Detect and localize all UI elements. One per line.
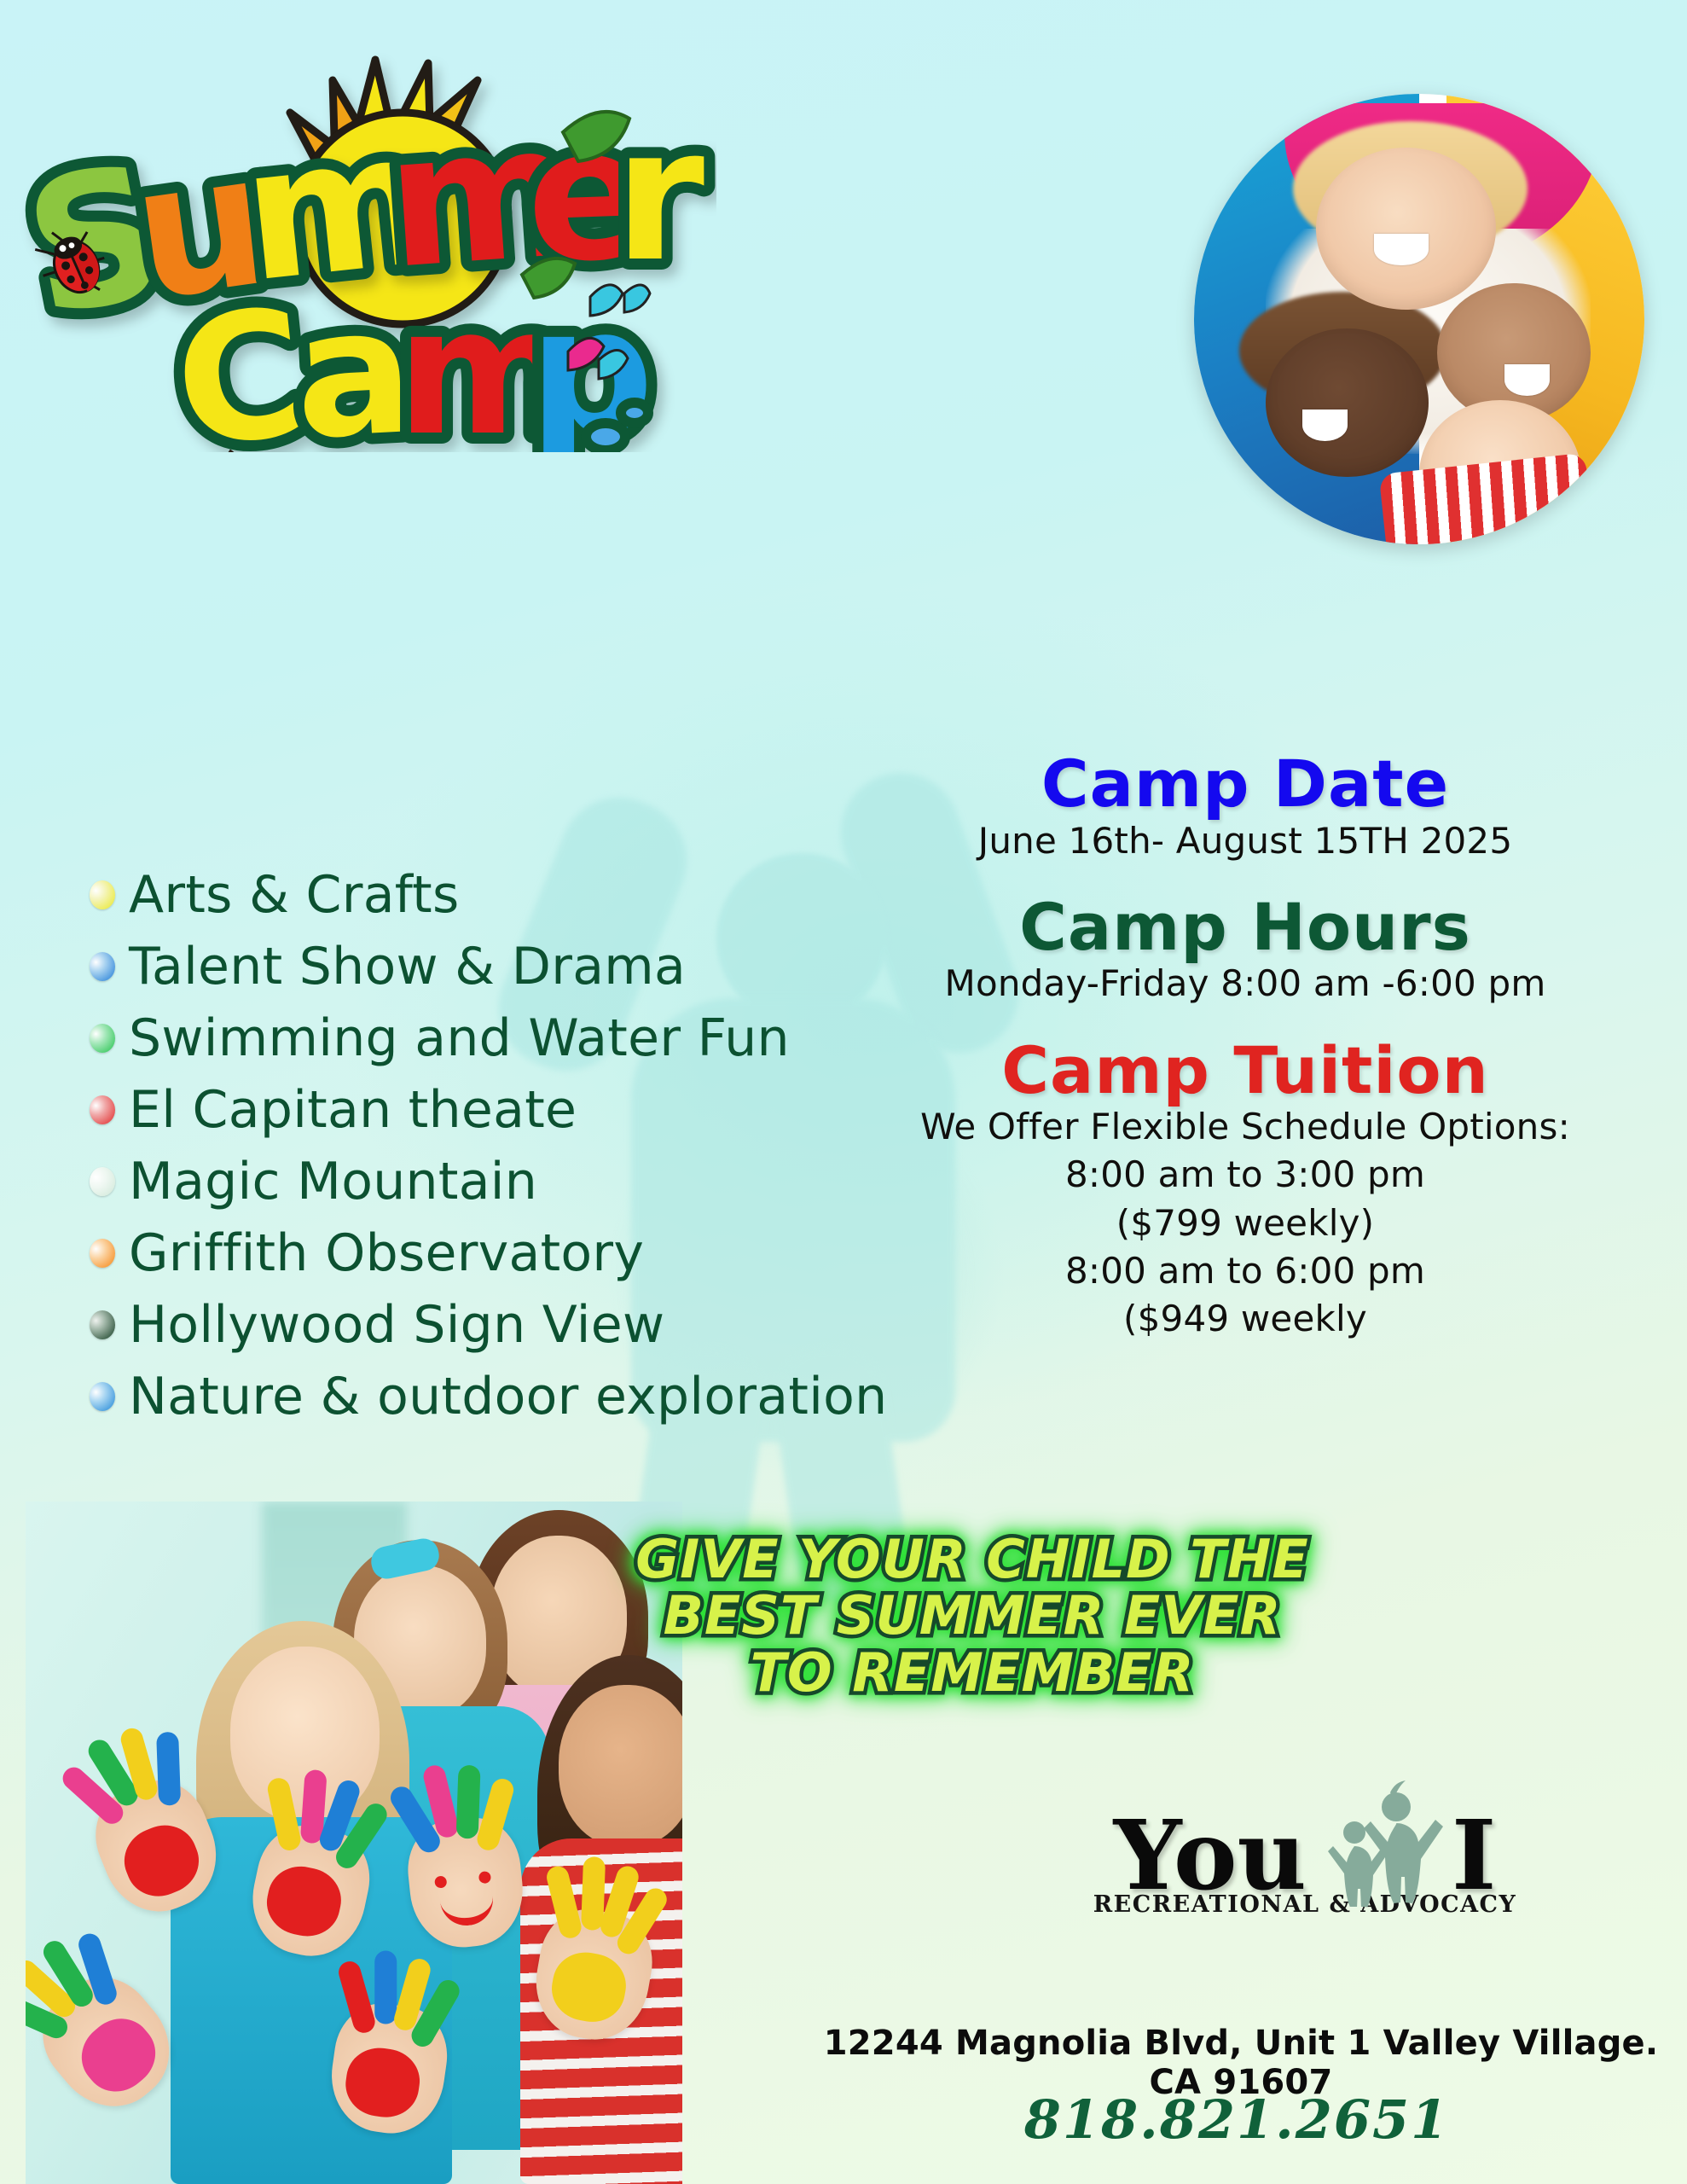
activity-label: Magic Mountain — [129, 1156, 537, 1207]
camp-hours-line: Monday-Friday 8:00 am -6:00 pm — [861, 960, 1629, 1008]
tuition-line-2: 8:00 am to 3:00 pm — [861, 1151, 1629, 1199]
tuition-line-4: 8:00 am to 6:00 pm — [861, 1247, 1629, 1295]
tagline: GIVE YOUR CHILD THE BEST SUMMER EVER TO … — [631, 1531, 1313, 1701]
activity-label: Talent Show & Drama — [129, 941, 686, 992]
brand-tagline: RECREATIONAL & ADVOCACY — [1006, 1891, 1603, 1918]
tagline-line-3: TO REMEMBER — [631, 1645, 1313, 1701]
bullet-dot — [90, 880, 115, 909]
summer-camp-logo: S u m m e r C a m p — [17, 51, 716, 452]
bullet-dot — [90, 1382, 115, 1411]
activity-label: Hollywood Sign View — [129, 1299, 664, 1350]
list-item: Talent Show & Drama — [90, 933, 908, 1000]
brand-name-right: I — [1452, 1812, 1496, 1900]
activity-label: Arts & Crafts — [129, 869, 460, 921]
activity-label: Swimming and Water Fun — [129, 1013, 790, 1064]
camp-date-line: June 16th- August 15TH 2025 — [861, 817, 1629, 865]
list-item: Nature & outdoor exploration — [90, 1363, 908, 1430]
list-item: Swimming and Water Fun — [90, 1005, 908, 1072]
camp-date-block: Camp Date June 16th- August 15TH 2025 — [861, 751, 1629, 865]
bullet-dot — [90, 952, 115, 981]
summer-camp-flyer: S u m m e r C a m p — [0, 0, 1687, 2184]
tagline-line-2: BEST SUMMER EVER — [631, 1588, 1313, 1644]
bullet-dot — [90, 1167, 115, 1196]
camp-tuition-block: Camp Tuition We Offer Flexible Schedule … — [861, 1037, 1629, 1344]
tuition-line-5: ($949 weekly — [861, 1295, 1629, 1343]
list-item: Magic Mountain — [90, 1148, 908, 1215]
activities-list: Arts & Crafts Talent Show & Drama Swimmi… — [90, 862, 908, 1435]
list-item: El Capitan theate — [90, 1077, 908, 1143]
tuition-line-3: ($799 weekly) — [861, 1199, 1629, 1247]
brand-logo: You I RECREATIONAL & ADVOCACY — [1006, 1779, 1603, 1918]
brand-name-left: You — [1114, 1812, 1307, 1900]
bullet-dot — [90, 1239, 115, 1268]
tuition-line-1: We Offer Flexible Schedule Options: — [861, 1103, 1629, 1151]
camp-tuition-heading: Camp Tuition — [861, 1037, 1629, 1104]
bullet-dot — [90, 1095, 115, 1124]
bullet-dot — [90, 1310, 115, 1339]
activity-label: Nature & outdoor exploration — [129, 1371, 888, 1422]
activity-label: El Capitan theate — [129, 1084, 577, 1136]
list-item: Arts & Crafts — [90, 862, 908, 928]
activity-label: Griffith Observatory — [129, 1228, 644, 1279]
bullet-dot — [90, 1024, 115, 1053]
camp-date-heading: Camp Date — [861, 751, 1629, 817]
tagline-line-1: GIVE YOUR CHILD THE — [631, 1531, 1313, 1588]
camp-hours-block: Camp Hours Monday-Friday 8:00 am -6:00 p… — [861, 894, 1629, 1008]
people-figures-icon — [1315, 1779, 1443, 1907]
list-item: Hollywood Sign View — [90, 1292, 908, 1358]
kids-huddle-photo — [1194, 94, 1644, 544]
camp-hours-heading: Camp Hours — [861, 894, 1629, 961]
list-item: Griffith Observatory — [90, 1220, 908, 1287]
phone-number[interactable]: 818.821.2651 — [853, 2088, 1620, 2151]
painted-hands-photo — [26, 1501, 682, 2184]
camp-info-column: Camp Date June 16th- August 15TH 2025 Ca… — [861, 751, 1629, 1343]
